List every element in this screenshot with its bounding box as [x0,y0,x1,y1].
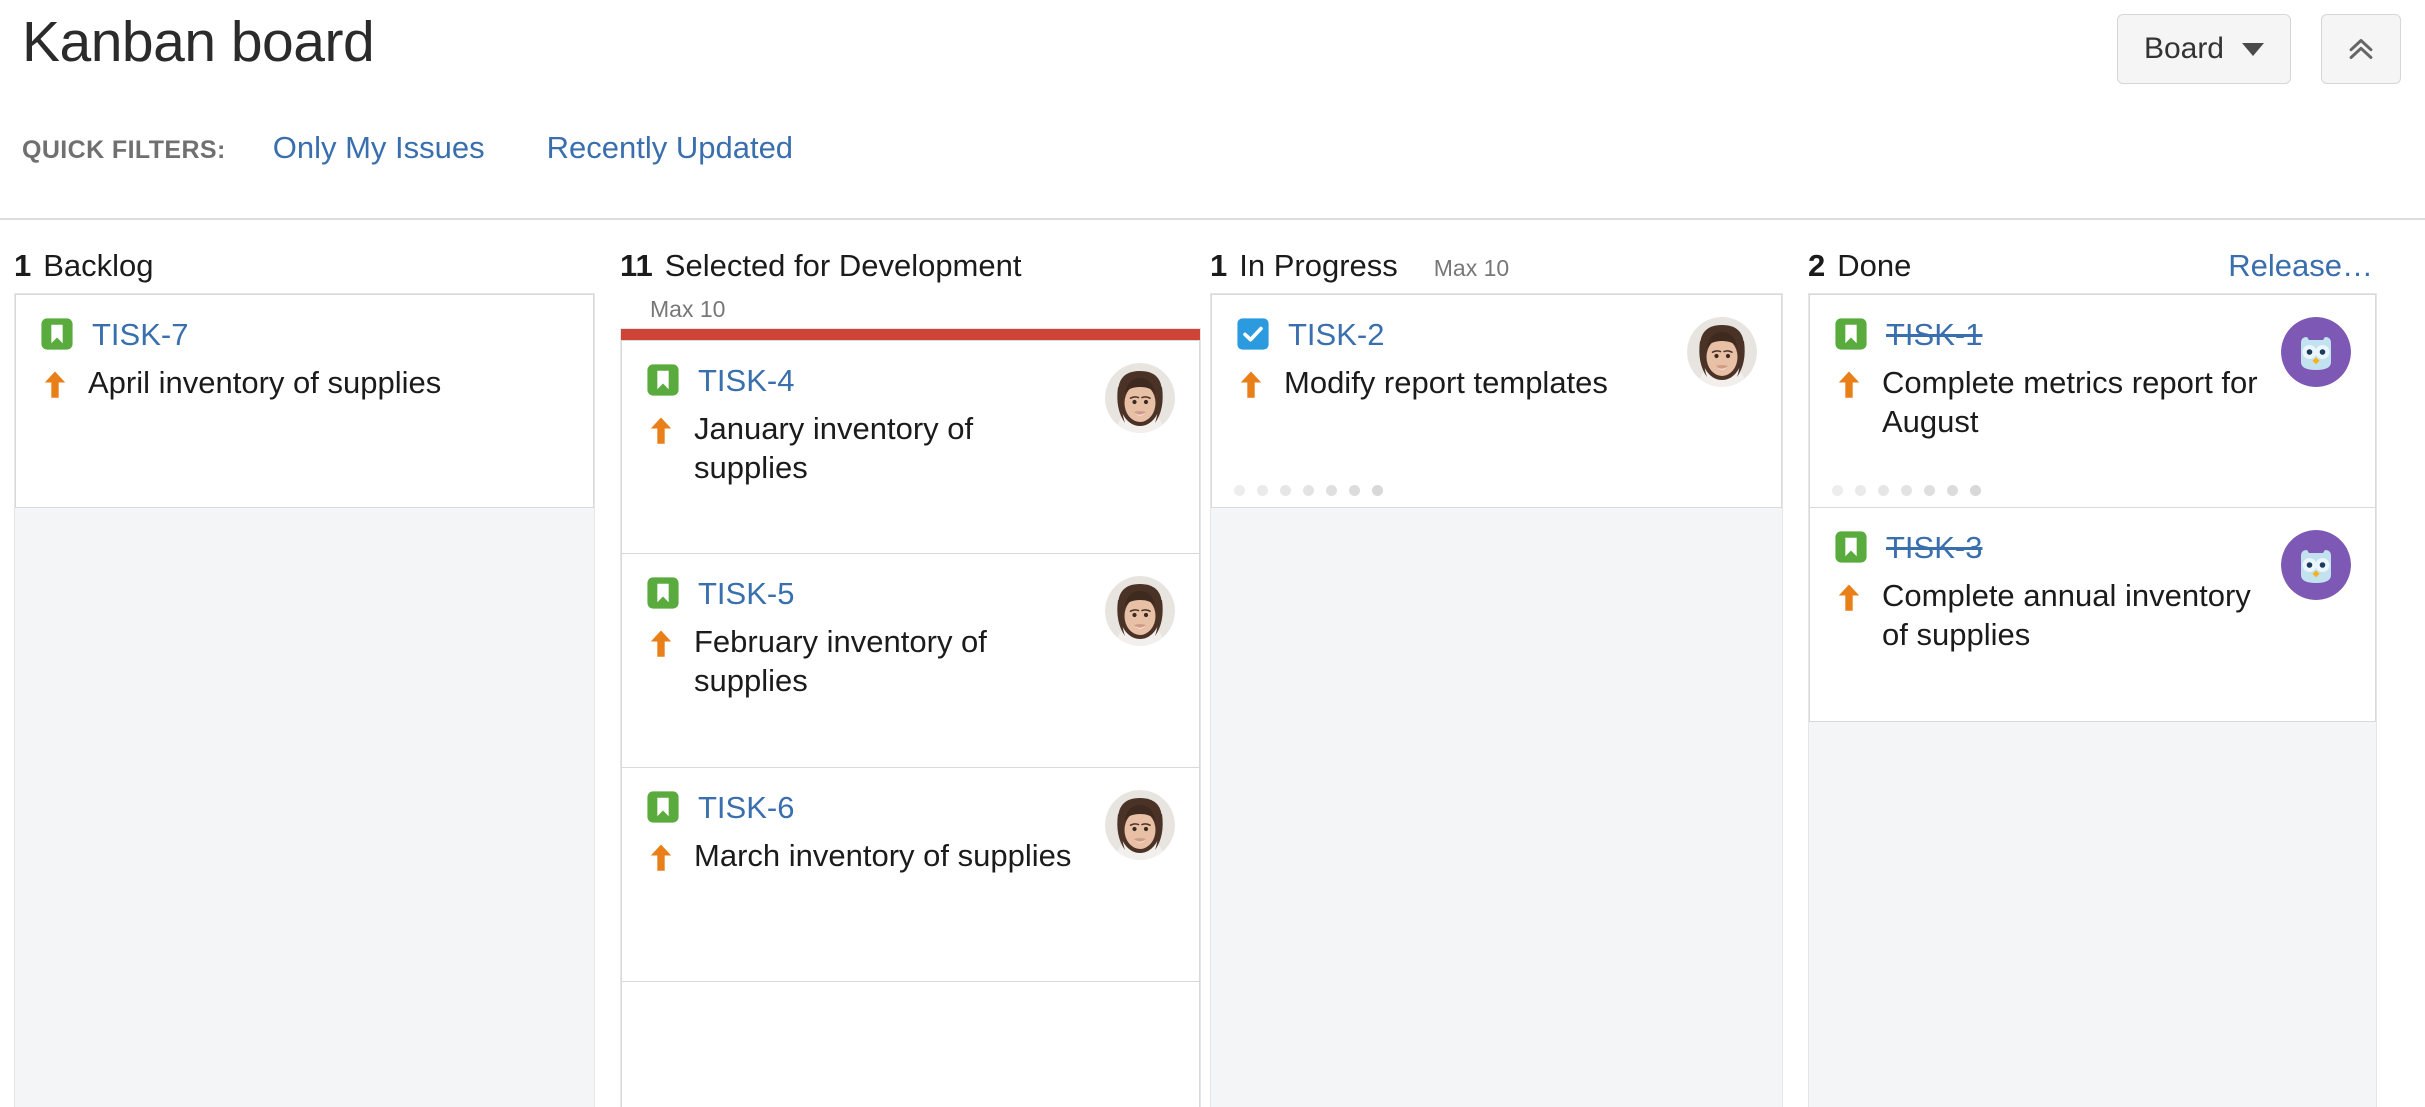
column-name: Selected for Development [665,248,1022,283]
board-header: Kanban board Board QUICK FILTERS: Only M… [0,0,2425,220]
days-in-column-indicator [1234,485,1383,496]
issue-summary: Complete annual inventory of supplies [1882,576,2263,655]
column-header: 11Selected for DevelopmentMax 10 [620,248,1201,323]
column-body[interactable]: TISK-2Modify report templates [1210,293,1783,1107]
card[interactable]: TISK-3Complete annual inventory of suppl… [1809,508,2376,722]
column-body[interactable]: TISK-7April inventory of supplies [14,293,595,1107]
issue-key-link[interactable]: TISK-5 [698,578,794,609]
priority-medium-up-icon [1834,581,1864,615]
column-issue-count: 11 [620,248,653,283]
task-checkbox-icon [1236,317,1270,351]
story-icon [646,790,680,824]
issue-summary: March inventory of supplies [694,836,1071,875]
issue-key-link[interactable]: TISK-1 [1886,319,1982,350]
avatar[interactable] [2281,317,2351,387]
column-name: In Progress [1239,248,1398,283]
story-icon [1834,317,1868,351]
column-limit-exceeded-bar [621,329,1200,340]
column-max-limit: Max 10 [620,296,1201,323]
priority-medium-up-icon [40,368,70,402]
avatar[interactable] [1687,317,1757,387]
priority-medium-up-icon [1236,368,1266,402]
issue-summary: Modify report templates [1284,363,1608,402]
issue-key-link[interactable]: TISK-3 [1886,532,1982,563]
collapse-header-button[interactable] [2321,14,2401,84]
column-header: 1In ProgressMax 10 [1210,248,1783,284]
board-columns: 1BacklogTISK-7April inventory of supplie… [0,220,2425,1107]
story-icon [1834,530,1868,564]
priority-medium-up-icon [646,627,676,661]
story-icon [646,576,680,610]
column-name: Backlog [43,248,153,283]
priority-medium-up-icon [646,841,676,875]
issue-key-link[interactable]: TISK-7 [92,319,188,350]
board-column-in-progress: 1In ProgressMax 10TISK-2Modify report te… [1210,220,1783,1107]
issue-key-link[interactable]: TISK-6 [698,792,794,823]
column-issue-count: 1 [1210,248,1227,283]
card[interactable]: TISK-6March inventory of supplies [621,768,1200,982]
column-issue-count: 1 [14,248,31,283]
column-body[interactable]: TISK-1Complete metrics report for August… [1808,293,2377,1107]
quick-filters-label: QUICK FILTERS: [22,136,226,165]
issue-summary: February inventory of supplies [694,622,1087,701]
board-column-selected-for-development: 11Selected for DevelopmentMax 10TISK-4Ja… [620,220,1201,1107]
avatar[interactable] [1105,363,1175,433]
board-column-done: 2DoneRelease…TISK-1Complete metrics repo… [1808,220,2377,1107]
story-icon [40,317,74,351]
column-body[interactable]: TISK-4January inventory of suppliesTISK-… [620,328,1201,1107]
card[interactable]: TISK-7April inventory of supplies [15,294,594,508]
column-header: 2DoneRelease… [1808,248,2377,284]
column-max-limit: Max 10 [1434,255,1509,281]
issue-key-link[interactable]: TISK-2 [1288,319,1384,350]
avatar[interactable] [1105,790,1175,860]
card[interactable] [621,982,1200,1107]
card[interactable]: TISK-4January inventory of supplies [621,340,1200,554]
card[interactable]: TISK-2Modify report templates [1211,294,1782,508]
column-name: Done [1837,248,1911,283]
board-dropdown-button[interactable]: Board [2117,14,2291,84]
quick-filter-only-my-issues[interactable]: Only My Issues [273,130,485,166]
card[interactable]: TISK-5February inventory of supplies [621,554,1200,768]
quick-filters: QUICK FILTERS: Only My Issues Recently U… [22,130,793,166]
card[interactable]: TISK-1Complete metrics report for August [1809,294,2376,508]
issue-summary: April inventory of supplies [88,363,441,402]
page-title: Kanban board [22,10,374,76]
chevron-down-icon [2242,43,2264,56]
avatar[interactable] [1105,576,1175,646]
board-column-backlog: 1BacklogTISK-7April inventory of supplie… [14,220,595,1107]
issue-key-link[interactable]: TISK-4 [698,365,794,396]
header-actions: Board [2117,14,2401,84]
chevrons-up-icon [2344,32,2378,66]
column-header: 1Backlog [14,248,595,284]
column-issue-count: 2 [1808,248,1825,283]
avatar[interactable] [2281,530,2351,600]
priority-medium-up-icon [1834,368,1864,402]
release-link[interactable]: Release… [2228,248,2373,284]
priority-medium-up-icon [646,414,676,448]
story-icon [646,363,680,397]
issue-summary: January inventory of supplies [694,409,1087,488]
kanban-board-page: Kanban board Board QUICK FILTERS: Only M… [0,0,2425,1107]
quick-filter-recently-updated[interactable]: Recently Updated [547,130,793,166]
days-in-column-indicator [1832,485,1981,496]
board-dropdown-label: Board [2144,32,2224,66]
issue-summary: Complete metrics report for August [1882,363,2263,442]
